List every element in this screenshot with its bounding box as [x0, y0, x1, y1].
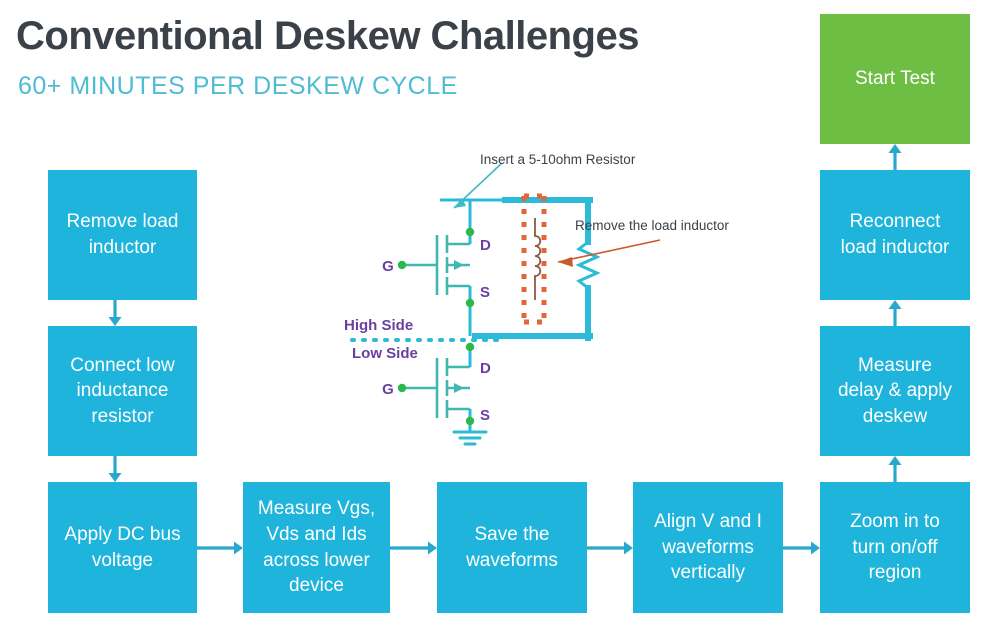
arrow-save-to-align	[587, 540, 633, 556]
insert-resistor-note: Insert a 5-10ohm Resistor	[480, 152, 635, 167]
inductor-pointer-arrow	[558, 240, 660, 267]
arrow-align-to-zoom	[783, 540, 820, 556]
upper-gate-label: G	[382, 258, 394, 275]
flow-node-apply-dc-bus-voltage[interactable]: Apply DC bus voltage	[48, 482, 197, 613]
remove-inductor-note: Remove the load inductor	[575, 218, 729, 233]
arrow-zoom-to-measure-delay	[887, 456, 903, 482]
flow-node-reconnect-load-inductor[interactable]: Reconnect load inductor	[820, 170, 970, 300]
arrow-remove-to-connect	[107, 300, 123, 326]
flow-node-start-test[interactable]: Start Test	[820, 14, 970, 144]
flow-node-connect-low-inductance-resistor[interactable]: Connect low inductance resistor	[48, 326, 197, 456]
flow-node-zoom-in-to-turn-on-off-region[interactable]: Zoom in to turn on/off region	[820, 482, 970, 613]
upper-source-label: S	[480, 284, 490, 301]
lower-source-label: S	[480, 407, 490, 424]
arrow-measure-delay-to-reconnect	[887, 300, 903, 326]
upper-body-arrow	[454, 260, 464, 270]
resistor-symbol	[579, 242, 597, 288]
arrow-reconnect-to-start	[887, 144, 903, 170]
arrow-measure-to-save	[390, 540, 437, 556]
flow-node-align-v-and-i-waveforms[interactable]: Align V and I waveforms vertically	[633, 482, 783, 613]
flow-node-remove-load-inductor[interactable]: Remove load inductor	[48, 170, 197, 300]
inductor-coil-symbol	[535, 218, 540, 300]
load-inductor-dashed-box	[524, 196, 544, 322]
lower-gate-label: G	[382, 381, 394, 398]
low-side-label: Low Side	[352, 345, 418, 362]
flow-node-measure-vgs-vds-ids[interactable]: Measure Vgs, Vds and Ids across lower de…	[243, 482, 390, 613]
page-subtitle: 60+ MINUTES PER DESKEW CYCLE	[18, 72, 458, 101]
lower-drain-label: D	[480, 360, 491, 377]
arrow-connect-to-apply	[107, 456, 123, 482]
page-title: Conventional Deskew Challenges	[16, 14, 639, 59]
arrow-apply-to-measure	[197, 540, 243, 556]
lower-body-arrow	[454, 383, 464, 393]
circuit-diagram: G D S G D S High Side Low Side	[330, 140, 760, 460]
ground-symbol	[454, 432, 486, 444]
high-side-label: High Side	[344, 317, 413, 334]
slide-canvas: Conventional Deskew Challenges 60+ MINUT…	[0, 0, 1000, 630]
upper-drain-label: D	[480, 237, 491, 254]
flow-node-measure-delay-apply-deskew[interactable]: Measure delay & apply deskew	[820, 326, 970, 456]
flow-node-save-the-waveforms[interactable]: Save the waveforms	[437, 482, 587, 613]
